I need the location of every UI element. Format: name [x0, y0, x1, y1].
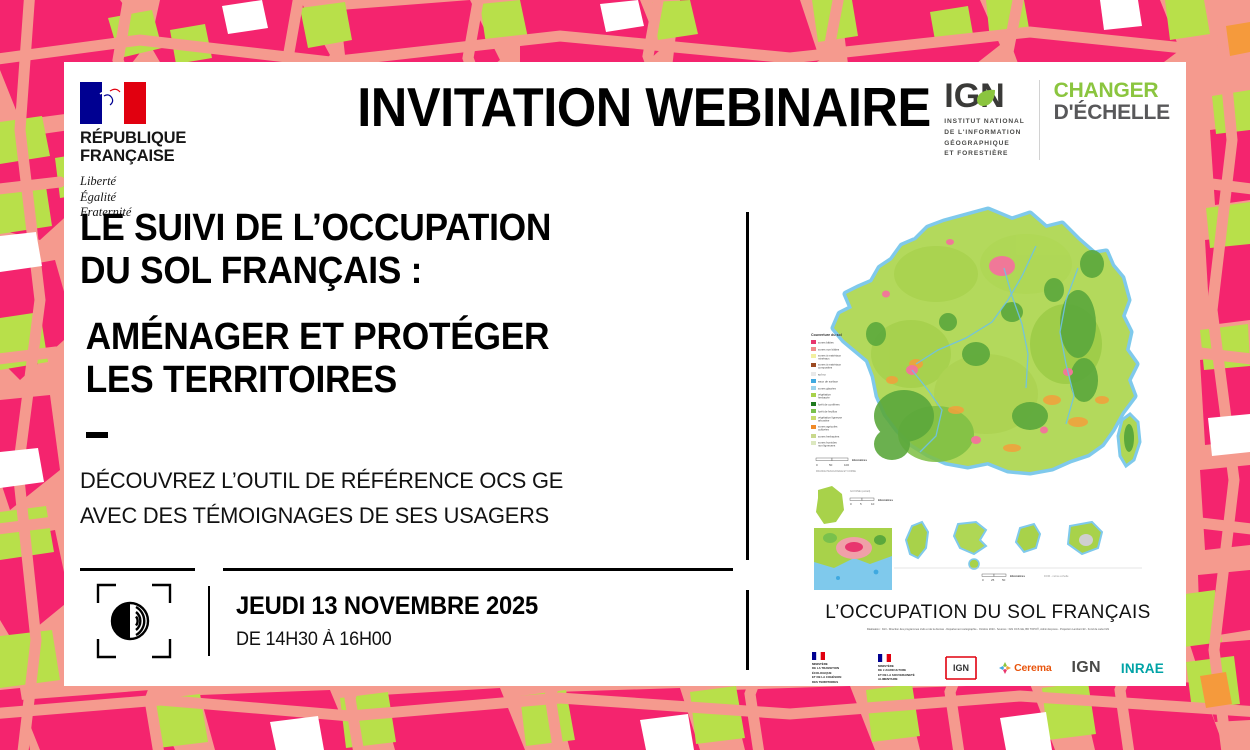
headline-primary: LE SUIVI DE L’OCCUPATION DU SOL FRANÇAIS… [80, 207, 694, 294]
event-date-block: JEUDI 13 NOVEMBRE 2025 DE 14H30 À 16H00 [236, 592, 554, 651]
subheadline: DÉCOUVREZ L’OUTIL DE RÉFÉRENCE OCS GE AV… [80, 464, 720, 534]
horizontal-rule-icon [80, 568, 195, 571]
partner-logo-ministere-transition-ecologique: MINISTÈRE DE LA TRANSITION ÉCOLOGIQUE ET… [812, 652, 858, 684]
svg-text:50: 50 [829, 463, 833, 467]
partner-label: MINISTÈRE DE L’AGRICULTURE ET DE LA SOUV… [878, 664, 915, 682]
card-header: RÉPUBLIQUE FRANÇAISE Liberté Égalité Fra… [64, 62, 1186, 202]
webinar-broadcast-icon [96, 583, 172, 659]
svg-text:IGN: IGN [953, 663, 969, 673]
svg-text:kilomètres: kilomètres [878, 498, 893, 502]
republique-francaise-label: RÉPUBLIQUE FRANÇAISE [80, 130, 212, 165]
tagline-line-1: CHANGER [1054, 80, 1170, 102]
horizontal-rule-date [223, 568, 733, 571]
french-flag-marianne-icon [80, 82, 146, 124]
poster-preview[interactable]: Couverture du sol zones bâties zones non… [806, 204, 1170, 654]
invitation-card: RÉPUBLIQUE FRANÇAISE Liberté Égalité Fra… [64, 62, 1186, 686]
partner-logo-ign: IGN [1072, 659, 1101, 677]
tagline-line-2: D'ÉCHELLE [1054, 102, 1170, 124]
cerema-label: Cerema [1014, 662, 1051, 674]
vertical-divider-date [746, 590, 749, 670]
dash-separator [86, 432, 108, 438]
partner-logo-ministere-agriculture: MINISTÈRE DE L’AGRICULTURE ET DE LA SOUV… [878, 654, 924, 682]
poster-title: L’OCCUPATION DU SOL FRANÇAIS [806, 602, 1170, 624]
svg-text:minéraux: minéraux [818, 357, 830, 361]
svg-text:eaux de surface: eaux de surface [818, 380, 838, 384]
svg-text:composites: composites [818, 366, 833, 370]
svg-text:kilomètres: kilomètres [1010, 574, 1025, 578]
leaf-icon [976, 89, 996, 107]
svg-text:cultivées: cultivées [818, 428, 829, 432]
svg-text:100: 100 [844, 463, 849, 467]
partner-logo-ign-red: IGN [944, 655, 978, 681]
vertical-divider-small [208, 586, 210, 656]
partner-label: MINISTÈRE DE LA TRANSITION ÉCOLOGIQUE ET… [812, 662, 841, 685]
french-flag-icon [878, 654, 891, 662]
event-date: JEUDI 13 NOVEMBRE 2025 [236, 592, 538, 621]
partner-logo-inrae: INRAE [1121, 661, 1164, 676]
svg-text:kilomètres: kilomètres [852, 458, 867, 462]
svg-text:forêt de conifères: forêt de conifères [818, 403, 840, 407]
svg-text:FRANCE HEXAGONALE ET CORSE: FRANCE HEXAGONALE ET CORSE [816, 470, 856, 473]
svg-text:zones bâties: zones bâties [818, 341, 834, 345]
svg-text:DOM - même échelle: DOM - même échelle [1044, 574, 1069, 578]
svg-text:non ligneuses: non ligneuses [818, 444, 836, 448]
svg-text:herbacée: herbacée [818, 396, 830, 400]
headline-secondary: AMÉNAGER ET PROTÉGER LES TERRITOIRES [80, 316, 694, 403]
poster-credit: Réalisation : IGN - Direction des progra… [834, 628, 1142, 633]
ign-logo-block: IGN INSTITUT NATIONAL DE L'INFORMATION G… [944, 80, 1170, 160]
svg-text:sol nu: sol nu [818, 373, 826, 377]
page-title: INVITATION WEBINAIRE [322, 80, 966, 135]
svg-text:Couverture du sol: Couverture du sol [811, 333, 842, 337]
republique-francaise-logo: RÉPUBLIQUE FRANÇAISE Liberté Égalité Fra… [80, 82, 212, 220]
svg-text:10: 10 [871, 502, 875, 506]
poster-partner-logos: MINISTÈRE DE LA TRANSITION ÉCOLOGIQUE ET… [812, 652, 1164, 684]
france-map-svg: Couverture du sol zones bâties zones non… [806, 204, 1170, 599]
french-flag-icon [812, 652, 825, 660]
svg-text:zones glacées: zones glacées [818, 387, 836, 391]
ign-subtitle: INSTITUT NATIONAL DE L'INFORMATION GÉOGR… [944, 117, 1024, 160]
france-landcover-map: Couverture du sol zones bâties zones non… [806, 204, 1170, 599]
svg-text:50: 50 [1002, 578, 1006, 582]
event-time: DE 14H30 À 16H00 [236, 629, 538, 651]
cerema-mark-icon [998, 661, 1012, 675]
svg-text:zones non bâties: zones non bâties [818, 348, 840, 352]
svg-text:25: 25 [991, 578, 995, 582]
ign-main-logo: IGN INSTITUT NATIONAL DE L'INFORMATION G… [944, 80, 1039, 160]
main-text-column: LE SUIVI DE L’OCCUPATION DU SOL FRANÇAIS… [80, 207, 740, 534]
svg-text:zones herbacées: zones herbacées [818, 435, 840, 439]
svg-text:forêt de feuillus: forêt de feuillus [818, 410, 838, 414]
changer-dechelle-tagline: CHANGER D'ÉCHELLE [1040, 80, 1170, 123]
svg-text:arbustive: arbustive [818, 419, 830, 423]
svg-text:GUYANE (extrait): GUYANE (extrait) [850, 489, 870, 493]
vertical-divider-main [746, 212, 749, 560]
partner-logo-cerema: Cerema [998, 661, 1051, 675]
